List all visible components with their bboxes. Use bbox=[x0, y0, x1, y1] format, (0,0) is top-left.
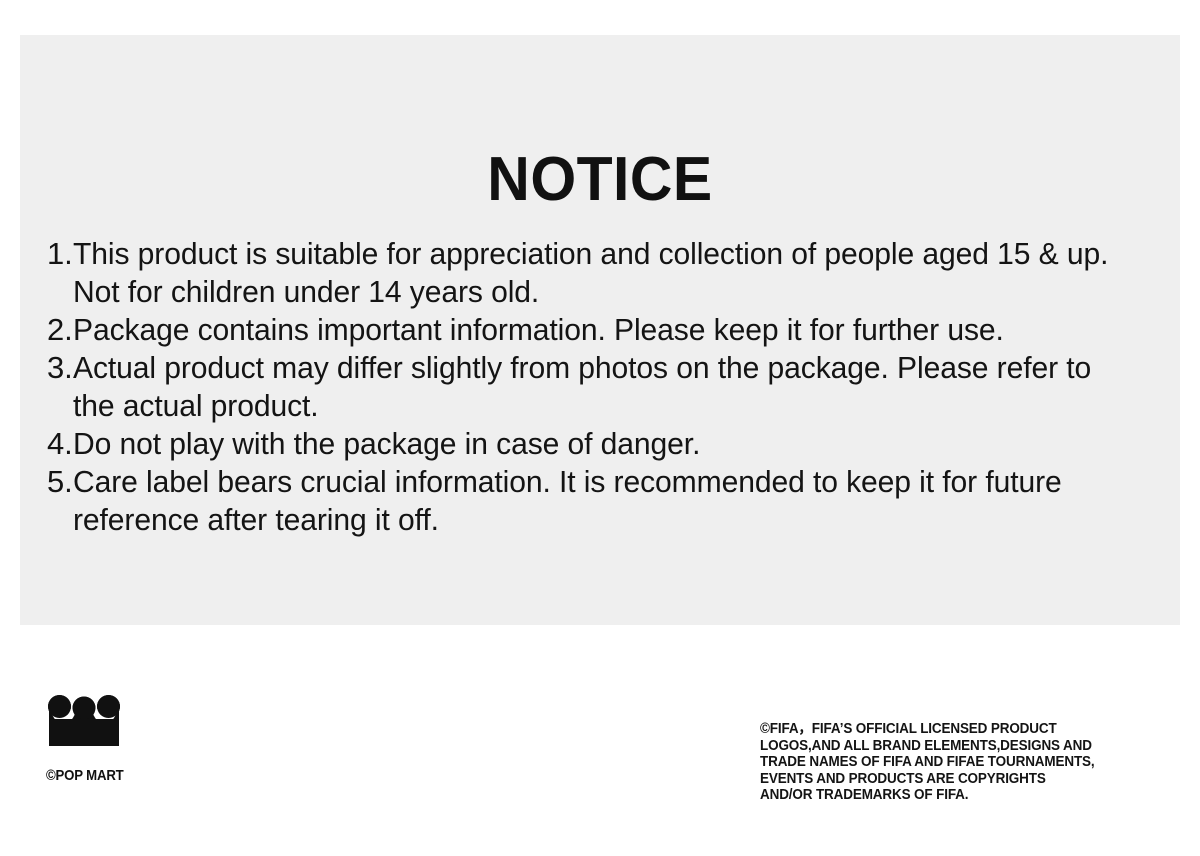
list-item: 4. Do not play with the package in case … bbox=[47, 425, 1162, 463]
list-item: 3. Actual product may differ slightly fr… bbox=[47, 349, 1162, 425]
list-item: 5. Care label bears crucial information.… bbox=[47, 463, 1162, 539]
list-item: 2. Package contains important informatio… bbox=[47, 311, 1162, 349]
legal-line: TRADE NAMES OF FIFA AND FIFAE TOURNAMENT… bbox=[760, 754, 1151, 771]
notice-list: 1. This product is suitable for apprecia… bbox=[47, 235, 1162, 539]
list-item-number: 4. bbox=[47, 425, 73, 463]
list-item-number: 1. bbox=[47, 235, 73, 273]
list-item-number: 5. bbox=[47, 463, 73, 501]
footer: ©POP MART ©FIFA，FIFA’S OFFICIAL LICENSED… bbox=[0, 625, 1200, 856]
brand-name: ©POP MART bbox=[46, 767, 275, 784]
legal-line: EVENTS AND PRODUCTS ARE COPYRIGHTS bbox=[760, 771, 1151, 788]
legal-notice: ©FIFA，FIFA’S OFFICIAL LICENSED PRODUCT L… bbox=[760, 721, 1180, 804]
legal-line: ©FIFA，FIFA’S OFFICIAL LICENSED PRODUCT bbox=[760, 721, 1151, 738]
brand-block: ©POP MART bbox=[46, 695, 306, 784]
list-item-number: 2. bbox=[47, 311, 73, 349]
list-item-number: 3. bbox=[47, 349, 73, 387]
legal-line: LOGOS,AND ALL BRAND ELEMENTS,DESIGNS AND bbox=[760, 738, 1151, 755]
page-title: NOTICE bbox=[49, 145, 1151, 215]
list-item-text: Care label bears crucial information. It… bbox=[73, 463, 1129, 539]
notice-panel: NOTICE 1. This product is suitable for a… bbox=[20, 35, 1180, 625]
list-item-text: Do not play with the package in case of … bbox=[73, 425, 1129, 463]
list-item: 1. This product is suitable for apprecia… bbox=[47, 235, 1162, 311]
list-item-text: This product is suitable for appreciatio… bbox=[73, 235, 1129, 311]
legal-line: AND/OR TRADEMARKS OF FIFA. bbox=[760, 787, 1151, 804]
pop-mart-crown-icon bbox=[46, 695, 122, 747]
list-item-text: Actual product may differ slightly from … bbox=[73, 349, 1129, 425]
list-item-text: Package contains important information. … bbox=[73, 311, 1129, 349]
